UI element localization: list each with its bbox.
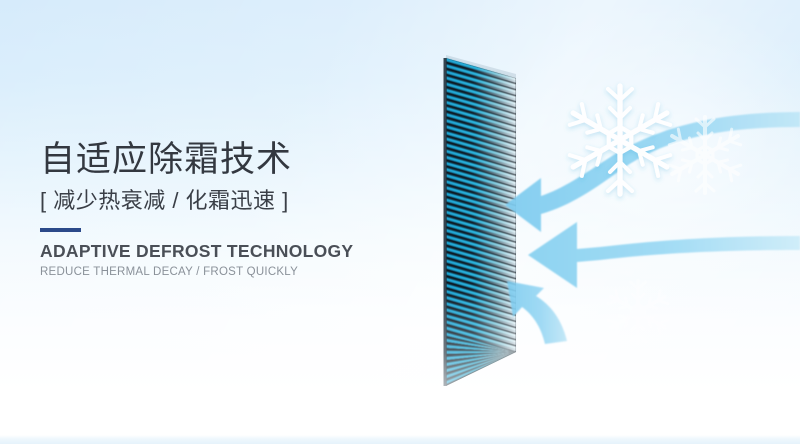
subtitle-english: REDUCE THERMAL DECAY / FROST QUICKLY [40,266,400,278]
subtitle-chinese: [ 减少热衰减 / 化霜迅速 ] [40,187,400,216]
adaptive-defrost-banner: 自适应除霜技术 [ 减少热衰减 / 化霜迅速 ] ADAPTIVE DEFROS… [0,0,800,444]
headline-text-block: 自适应除霜技术 [ 减少热衰减 / 化霜迅速 ] ADAPTIVE DEFROS… [40,140,400,278]
title-english: ADAPTIVE DEFROST TECHNOLOGY [40,241,400,262]
accent-divider [40,228,81,232]
title-chinese: 自适应除霜技术 [40,140,400,181]
bottom-accent-band [0,435,800,444]
